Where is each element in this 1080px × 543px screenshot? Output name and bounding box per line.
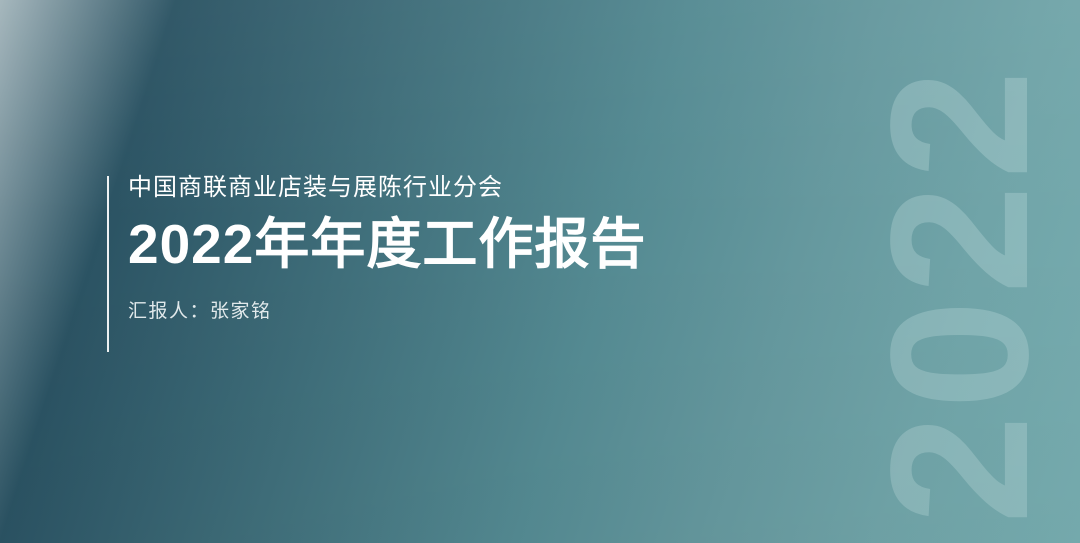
year-watermark-text: 2022 (862, 63, 1058, 523)
page-title: 2022年年度工作报告 (128, 200, 646, 276)
presenter-label: 汇报人：张家铭 (128, 276, 646, 321)
title-slide: 2022 中国商联商业店装与展陈行业分会 2022年年度工作报告 汇报人：张家铭 (0, 0, 1080, 543)
title-block: 中国商联商业店装与展陈行业分会 2022年年度工作报告 汇报人：张家铭 (107, 176, 646, 352)
year-watermark: 2022 (820, 0, 1080, 543)
organization-name: 中国商联商业店装与展陈行业分会 (128, 176, 646, 200)
